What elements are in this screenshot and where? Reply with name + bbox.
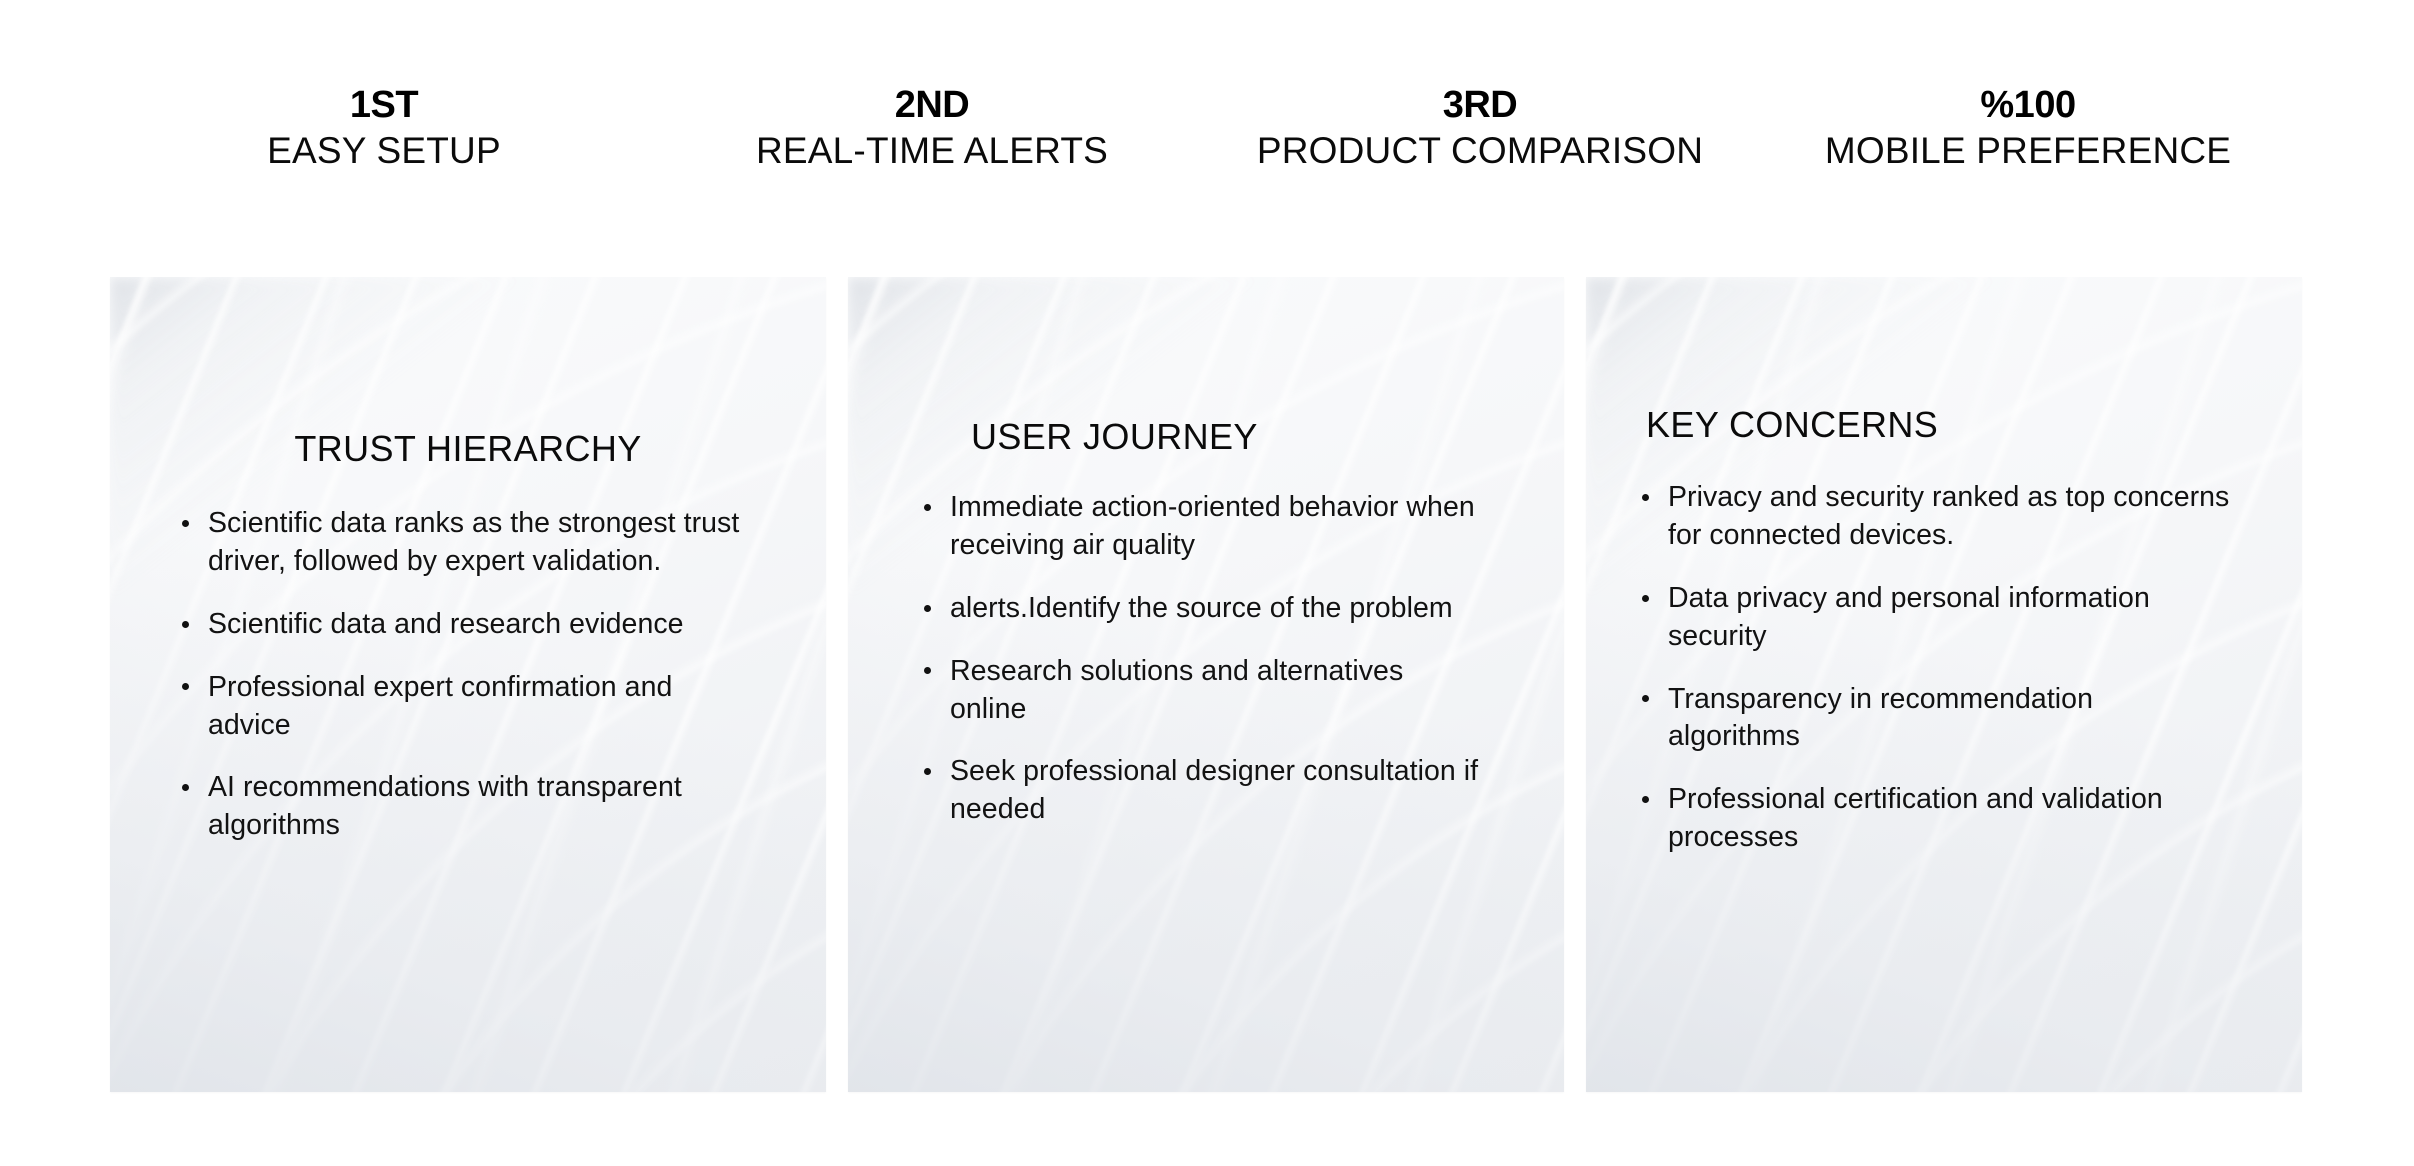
list-item-text: Transparency in recommendation algorithm…	[1668, 683, 2093, 753]
bullet-dot-icon	[924, 605, 931, 612]
list-item: Transparency in recommendation algorithm…	[1642, 681, 2232, 757]
list-item: Immediate action-oriented behavior when …	[924, 489, 1484, 565]
bullet-dot-icon	[1642, 494, 1649, 501]
list-item: Professional expert confirmation and adv…	[182, 669, 742, 745]
card-title: USER JOURNEY	[971, 417, 1258, 457]
bullet-dot-icon	[924, 768, 931, 775]
list-item-text: AI recommendations with transparent algo…	[208, 771, 682, 841]
list-item-text: Scientific data ranks as the strongest t…	[208, 507, 739, 577]
list-item: Scientific data and research evidence	[182, 606, 742, 644]
list-item-text: Immediate action-oriented behavior when …	[950, 491, 1475, 561]
cards-row: TRUST HIERARCHY Scientific data ranks as…	[110, 277, 2302, 1092]
list-item: Research solutions and alternatives onli…	[924, 653, 1484, 729]
list-item-text: Data privacy and personal information se…	[1668, 582, 2150, 652]
stat-label-1: EASY SETUP	[110, 132, 658, 171]
stats-row: 1ST EASY SETUP 2ND REAL-TIME ALERTS 3RD …	[110, 86, 2302, 171]
list-item-text: Privacy and security ranked as top conce…	[1668, 481, 2229, 551]
slide-canvas: 1ST EASY SETUP 2ND REAL-TIME ALERTS 3RD …	[0, 0, 2414, 1166]
stat-value-1: 1ST	[110, 86, 658, 125]
stat-label-3: PRODUCT COMPARISON	[1206, 132, 1754, 171]
card-title: TRUST HIERARCHY	[110, 429, 826, 469]
bullet-dot-icon	[1642, 796, 1649, 803]
card-title: KEY CONCERNS	[1646, 405, 1938, 445]
list-item: Privacy and security ranked as top conce…	[1642, 479, 2232, 555]
stat-item-2: 2ND REAL-TIME ALERTS	[658, 86, 1206, 171]
stat-value-3: 3RD	[1206, 86, 1754, 125]
stat-item-3: 3RD PRODUCT COMPARISON	[1206, 86, 1754, 171]
stat-label-2: REAL-TIME ALERTS	[658, 132, 1206, 171]
bullet-dot-icon	[182, 520, 189, 527]
bullet-dot-icon	[182, 683, 189, 690]
list-item: alerts.Identify the source of the proble…	[924, 590, 1484, 628]
list-item: Data privacy and personal information se…	[1642, 580, 2232, 656]
card-trust-hierarchy: TRUST HIERARCHY Scientific data ranks as…	[110, 277, 826, 1092]
card-bullet-list: Privacy and security ranked as top conce…	[1642, 479, 2232, 857]
stat-item-4: %100 MOBILE PREFERENCE	[1754, 86, 2302, 171]
bullet-dot-icon	[1642, 595, 1649, 602]
list-item-text: Research solutions and alternatives onli…	[950, 655, 1403, 725]
list-item: AI recommendations with transparent algo…	[182, 769, 742, 845]
card-user-journey: USER JOURNEY Immediate action-oriented b…	[848, 277, 1564, 1092]
bullet-dot-icon	[924, 667, 931, 674]
bullet-dot-icon	[182, 621, 189, 628]
list-item-text: Seek professional designer consultation …	[950, 755, 1478, 825]
bullet-dot-icon	[182, 784, 189, 791]
list-item: Scientific data ranks as the strongest t…	[182, 505, 742, 581]
list-item: Professional certification and validatio…	[1642, 781, 2232, 857]
card-bullet-list: Scientific data ranks as the strongest t…	[182, 505, 742, 845]
stat-value-4: %100	[1754, 86, 2302, 125]
stat-value-2: 2ND	[658, 86, 1206, 125]
list-item-text: alerts.Identify the source of the proble…	[950, 592, 1453, 624]
card-bullet-list: Immediate action-oriented behavior when …	[924, 489, 1484, 829]
stat-item-1: 1ST EASY SETUP	[110, 86, 658, 171]
bullet-dot-icon	[1642, 695, 1649, 702]
list-item-text: Professional certification and validatio…	[1668, 783, 2163, 853]
list-item: Seek professional designer consultation …	[924, 753, 1484, 829]
stat-label-4: MOBILE PREFERENCE	[1754, 132, 2302, 171]
list-item-text: Scientific data and research evidence	[208, 608, 684, 640]
bullet-dot-icon	[924, 504, 931, 511]
list-item-text: Professional expert confirmation and adv…	[208, 671, 672, 741]
card-key-concerns: KEY CONCERNS Privacy and security ranked…	[1586, 277, 2302, 1092]
